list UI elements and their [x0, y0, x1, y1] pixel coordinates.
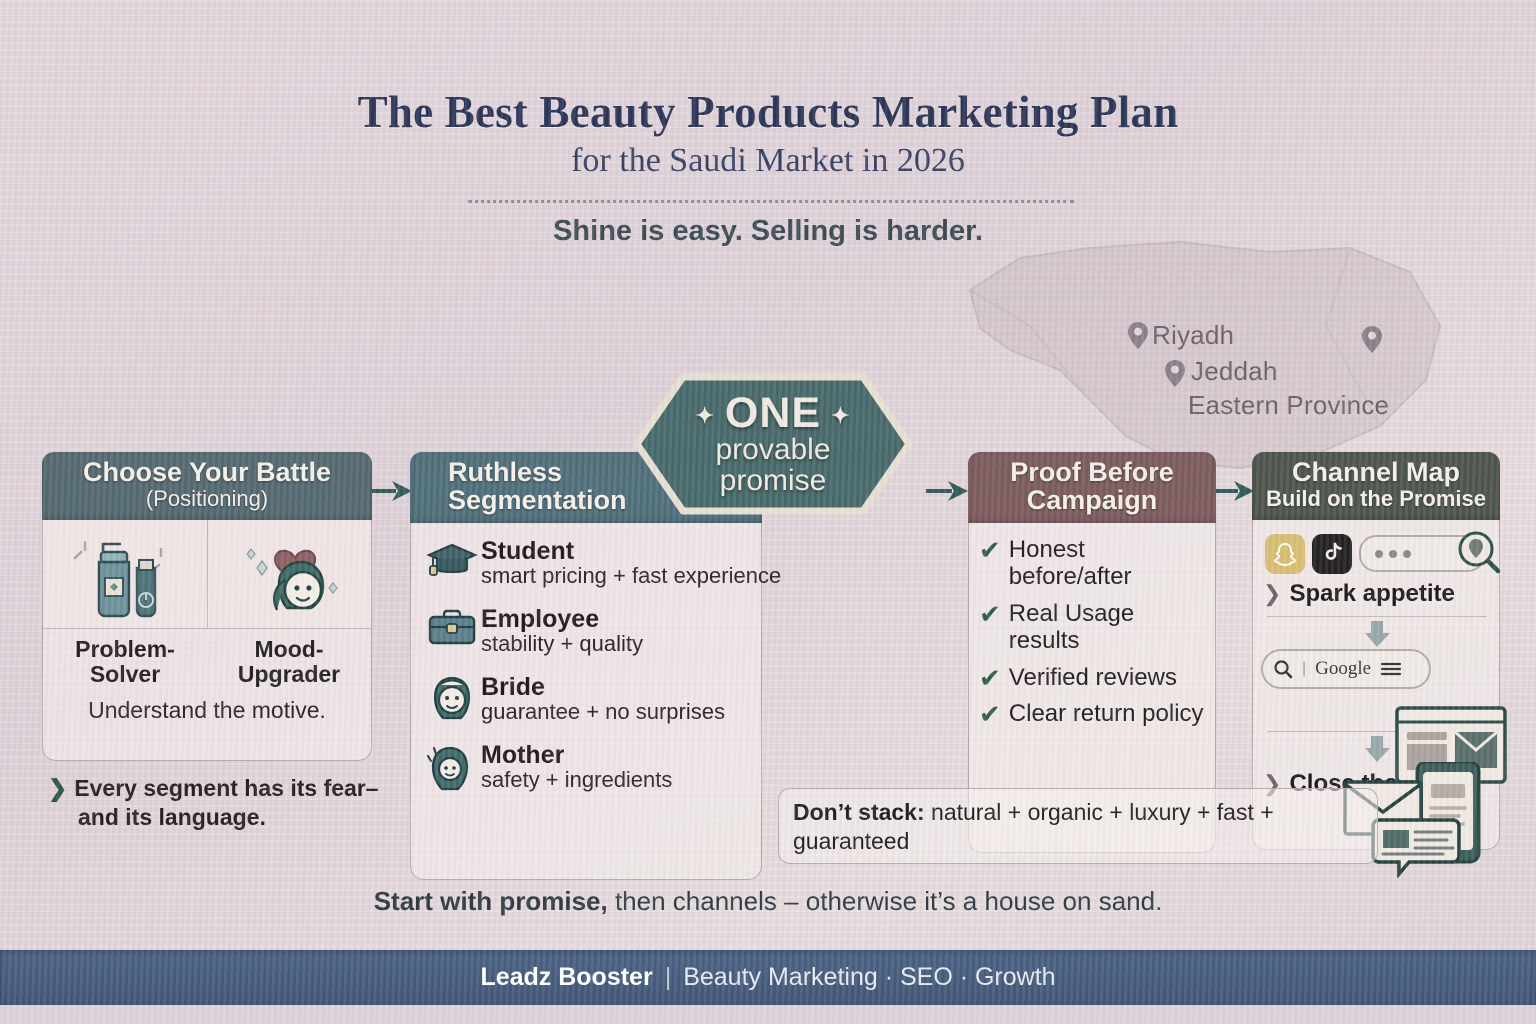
hamburger-menu-icon	[1380, 661, 1402, 677]
segment-name: Student	[481, 538, 781, 564]
map-city-label-eastern-province: Eastern Province	[1188, 390, 1389, 421]
title-divider	[468, 200, 1074, 203]
persona-image-mood-upgrader	[207, 520, 372, 628]
page-tagline: Shine is easy. Selling is harder.	[0, 215, 1536, 248]
card-choose-your-battle[interactable]: Choose Your Battle (Positioning)	[42, 452, 372, 761]
segment-desc: smart pricing + fast experience	[481, 564, 781, 589]
snapchat-icon[interactable]	[1265, 534, 1305, 574]
card1-note: ❯Every segment has its fear– and its lan…	[48, 774, 398, 833]
channel-step-label: Spark appetite	[1289, 580, 1454, 608]
badge-line-2: provable	[715, 435, 830, 466]
persona-image-split	[43, 520, 371, 629]
search-icon	[1273, 659, 1293, 679]
flow-arrow-1-icon	[370, 478, 414, 509]
bottom-strip	[0, 1005, 1536, 1024]
saudi-map-silhouette	[940, 230, 1460, 480]
brand-divider: |	[665, 963, 672, 992]
persona-labels: Problem- Solver Mood- Upgrader	[43, 637, 371, 689]
social-channel-row	[1261, 530, 1493, 574]
proof-item-label: Clear return policy	[1009, 701, 1204, 728]
badge-line-1: ONE	[725, 389, 821, 437]
footer-takeaway: Start with promise, then channels – othe…	[0, 886, 1536, 917]
tiktok-icon[interactable]	[1312, 534, 1352, 574]
map-pin-eastern-icon	[1362, 326, 1382, 353]
persona-label-line3: Mood-	[255, 636, 324, 662]
persona-label-line1: Problem-	[75, 636, 175, 662]
page-subtitle: for the Saudi Market in 2026	[0, 142, 1536, 180]
footer-takeaway-bold: Start with promise,	[374, 886, 608, 916]
segment-bride: Bride guarantee + no surprises	[423, 673, 751, 727]
segment-desc: stability + quality	[481, 632, 643, 657]
card1-body: Problem- Solver Mood- Upgrader Understan…	[42, 520, 372, 761]
card4-header: Channel Map Build on the Promise	[1252, 452, 1500, 520]
proof-item-label: Real Usage results	[1009, 601, 1207, 655]
step-divider	[1267, 616, 1487, 617]
note-line-1: Every segment has its fear–	[74, 775, 378, 801]
footer-brand-bar: Leadz Booster | Beauty Marketing · SEO ·…	[0, 950, 1536, 1005]
chevron-right-icon: ❯	[1263, 581, 1281, 607]
map-pin-jeddah-icon	[1165, 360, 1185, 387]
page-title: The Best Beauty Products Marketing Plan	[0, 86, 1536, 138]
bottle-dropper-icon	[65, 528, 185, 620]
proof-item: ✔ Verified reviews	[979, 665, 1207, 692]
segment-student: Student smart pricing + fast experience	[423, 537, 751, 591]
proof-item-label: Verified reviews	[1009, 665, 1177, 692]
map-pin-riyadh-icon	[1128, 322, 1148, 349]
check-icon: ✔	[979, 537, 1001, 591]
search-pin-icon	[1453, 527, 1505, 584]
card1-subtitle: (Positioning)	[48, 487, 366, 511]
note-line-2: and its language.	[78, 803, 266, 832]
persona-label-mood-upgrader: Mood- Upgrader	[207, 637, 371, 689]
segment-desc: guarantee + no surprises	[481, 700, 725, 725]
bride-icon	[423, 673, 481, 727]
check-icon: ✔	[979, 701, 1001, 728]
infographic-canvas: Riyadh Jeddah Eastern Province The Best …	[0, 0, 1536, 1024]
persona-label-problem-solver: Problem- Solver	[43, 637, 207, 689]
map-city-label-riyadh: Riyadh	[1152, 320, 1234, 351]
dont-stack-note: Don’t stack: natural + organic + luxury …	[778, 788, 1378, 864]
graduation-cap-icon	[423, 537, 481, 591]
brand-services: Beauty Marketing · SEO · Growth	[683, 963, 1055, 992]
badge-line-3: promise	[720, 466, 827, 497]
segment-employee: Employee stability + quality	[423, 605, 751, 659]
check-icon: ✔	[979, 665, 1001, 692]
placeholder-dot	[1389, 550, 1397, 558]
badge-star-right-icon: ✦	[831, 403, 850, 428]
persona-image-problem-solver	[43, 520, 207, 628]
flow-arrow-3-icon	[1212, 478, 1256, 509]
card1-header: Choose Your Battle (Positioning)	[42, 452, 372, 520]
card3-header: Proof Before Campaign	[968, 452, 1216, 523]
persona-label-line4: Upgrader	[238, 661, 340, 687]
down-arrow-1-icon	[1261, 621, 1493, 647]
card2-body: Student smart pricing + fast experience …	[410, 523, 762, 880]
mother-icon	[423, 741, 481, 795]
search-bar-pill[interactable]	[1359, 535, 1485, 572]
map-city-label-jeddah: Jeddah	[1191, 356, 1278, 387]
card3-subtitle: Campaign	[974, 487, 1210, 515]
card4-subtitle: Build on the Promise	[1258, 487, 1494, 511]
flow-arrow-2-icon	[926, 478, 970, 509]
proof-item: ✔ Clear return policy	[979, 701, 1207, 728]
card4-title: Channel Map	[1258, 459, 1494, 487]
segment-desc: safety + ingredients	[481, 768, 672, 793]
placeholder-dot	[1375, 550, 1383, 558]
brand-name: Leadz Booster	[480, 963, 652, 992]
google-label: Google	[1315, 658, 1371, 680]
card3-title: Proof Before	[974, 459, 1210, 487]
badge-star-left-icon: ✦	[695, 403, 714, 428]
proof-item-label: Honest before/after	[1009, 537, 1207, 591]
segment-name: Employee	[481, 606, 643, 632]
segment-name: Mother	[481, 742, 672, 768]
persona-label-line2: Solver	[90, 661, 160, 687]
placeholder-dot	[1403, 550, 1411, 558]
check-icon: ✔	[979, 601, 1001, 655]
woman-heart-icon	[229, 528, 349, 620]
one-provable-promise-badge: ✦ONE✦ provable promise	[631, 371, 915, 517]
footer-takeaway-rest: then channels – otherwise it’s a house o…	[608, 886, 1163, 916]
briefcase-icon	[423, 605, 481, 659]
segment-name: Bride	[481, 674, 725, 700]
proof-item: ✔ Real Usage results	[979, 601, 1207, 655]
card1-title: Choose Your Battle	[48, 459, 366, 487]
dont-stack-bold: Don’t stack:	[793, 799, 925, 825]
segment-mother: Mother safety + ingredients	[423, 741, 751, 795]
chevron-right-icon: ❯	[48, 775, 67, 801]
motive-text: Understand the motive.	[43, 697, 371, 724]
proof-item: ✔ Honest before/after	[979, 537, 1207, 591]
google-search-bar[interactable]: | Google	[1261, 649, 1431, 689]
